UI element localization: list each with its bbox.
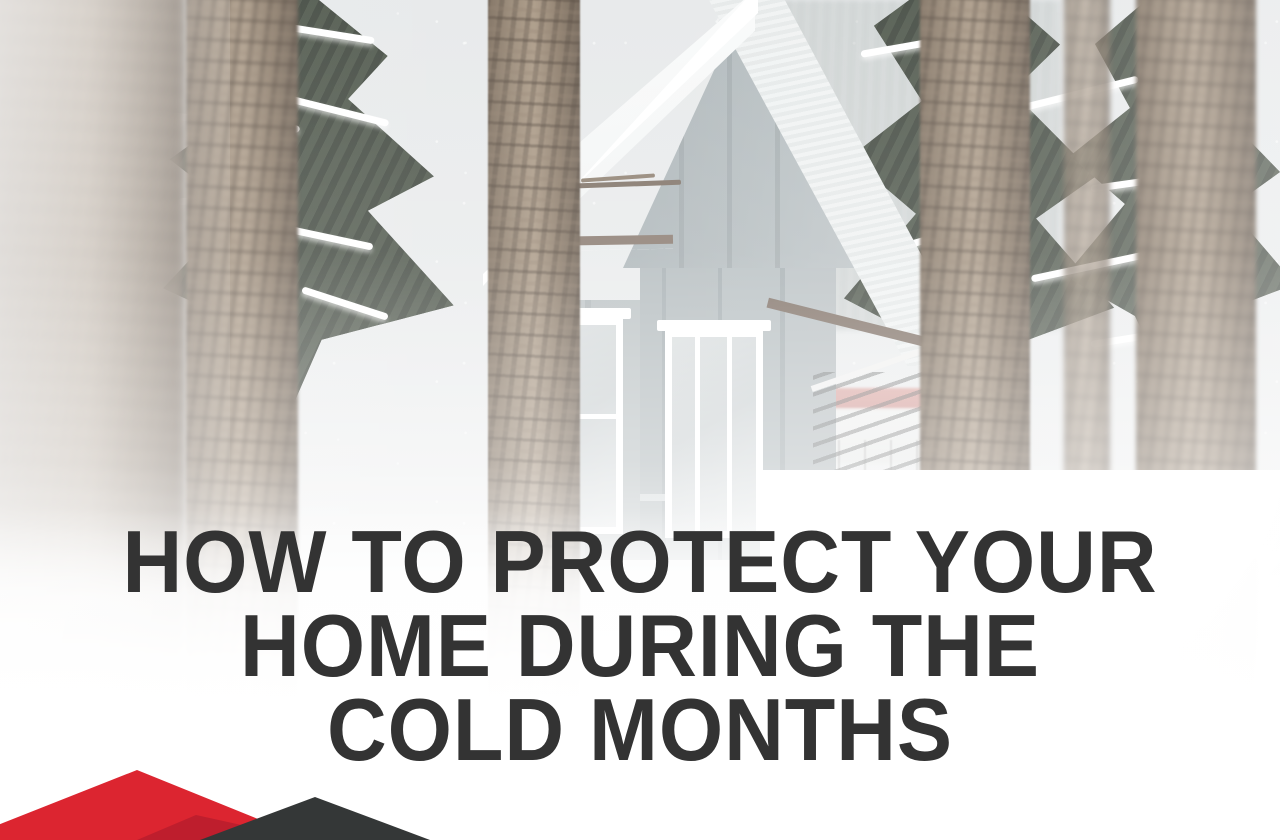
headline-line-1: HOW TO PROTECT YOUR: [38, 520, 1241, 604]
mountain-chevron-logo: [0, 745, 430, 840]
poster-headline: HOW TO PROTECT YOUR HOME DURING THE COLD…: [38, 520, 1241, 772]
poster-canvas: HOW TO PROTECT YOUR HOME DURING THE COLD…: [0, 0, 1280, 840]
headline-line-2: HOME DURING THE: [38, 604, 1241, 688]
